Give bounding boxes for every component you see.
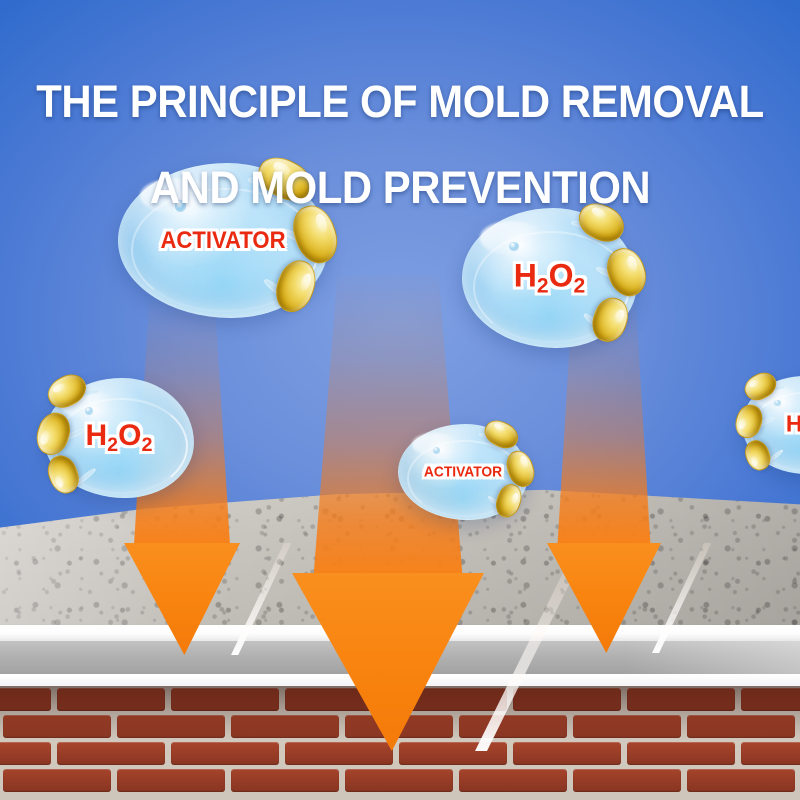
inner-droplet — [85, 407, 93, 415]
page-title: THE PRINCIPLE OF MOLD REMOVAL AND MOLD P… — [28, 38, 772, 251]
inner-droplet — [774, 400, 781, 407]
bubble-label: H2O2 — [786, 410, 800, 439]
poster-canvas: THE PRINCIPLE OF MOLD REMOVAL AND MOLD P… — [0, 0, 800, 800]
title-line-2: AND MOLD PREVENTION — [28, 166, 772, 209]
arrow-head — [547, 543, 661, 653]
title-line-1: THE PRINCIPLE OF MOLD REMOVAL — [28, 80, 772, 123]
bubble-label: ACTIVATOR — [424, 464, 502, 481]
bubble-activator-small-center: ACTIVATOR — [398, 424, 528, 520]
bubble-h2o2-mid-left: H2O2 — [44, 378, 194, 498]
bubble-h2o2-edge-right: H2O2 — [742, 376, 800, 474]
bubble-label: H2O2 — [514, 258, 586, 299]
bubble-label: H2O2 — [85, 419, 152, 457]
arrow-highlight-edge — [652, 543, 711, 653]
